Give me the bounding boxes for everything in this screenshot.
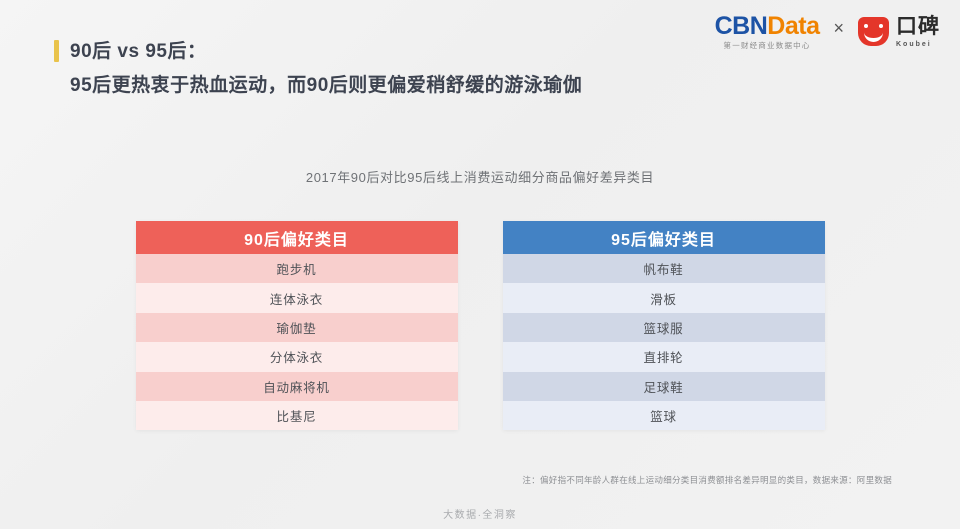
- table-row: 滑板: [503, 283, 825, 312]
- koubei-text-block: 口碑 Koubei: [896, 16, 940, 48]
- footnote: 注：偏好指不同年龄人群在线上运动细分类目消费额排名差异明显的类目，数据来源：阿里…: [522, 474, 892, 486]
- koubei-label-en: Koubei: [896, 41, 940, 48]
- table-95hou-header: 95后偏好类目: [503, 221, 825, 254]
- logo-separator-x: ×: [831, 18, 846, 39]
- koubei-mouth-icon: [864, 26, 883, 42]
- cbndata-subtitle: 第一财经商业数据中心: [724, 42, 811, 49]
- koubei-logo: 口碑 Koubei: [858, 16, 940, 48]
- cbndata-wordmark-orange: Data: [767, 12, 819, 40]
- koubei-label-cn: 口碑: [896, 16, 940, 37]
- table-row: 分体泳衣: [136, 342, 458, 371]
- cbndata-wordmark-blue: CBN: [715, 12, 768, 40]
- table-row: 足球鞋: [503, 372, 825, 401]
- title-line-2: 95后更热衷于热血运动，而90后则更偏爱稍舒缓的游泳瑜伽: [70, 70, 582, 97]
- title-lines: 90后 vs 95后： 95后更热衷于热血运动，而90后则更偏爱稍舒缓的游泳瑜伽: [70, 36, 582, 97]
- table-row: 帆布鞋: [503, 254, 825, 283]
- table-row: 瑜伽垫: [136, 313, 458, 342]
- table-row: 篮球服: [503, 313, 825, 342]
- table-row: 自动麻将机: [136, 372, 458, 401]
- table-row: 篮球: [503, 401, 825, 430]
- table-row: 直排轮: [503, 342, 825, 371]
- preference-tables: 90后偏好类目 跑步机 连体泳衣 瑜伽垫 分体泳衣 自动麻将机 比基尼 95后偏…: [0, 221, 960, 430]
- page-title: 90后 vs 95后： 95后更热衷于热血运动，而90后则更偏爱稍舒缓的游泳瑜伽: [54, 36, 582, 97]
- table-row: 连体泳衣: [136, 283, 458, 312]
- watermark: 大数据·全洞察: [0, 506, 960, 521]
- table-90hou-header: 90后偏好类目: [136, 221, 458, 254]
- koubei-smile-icon: [858, 17, 889, 46]
- chart-caption: 2017年90后对比95后线上消费运动细分商品偏好差异类目: [0, 167, 960, 186]
- title-line-1: 90后 vs 95后：: [70, 36, 582, 63]
- title-accent-bar: [54, 40, 59, 62]
- brand-logo-bar: CBNData 第一财经商业数据中心 × 口碑 Koubei: [715, 14, 940, 50]
- table-row: 比基尼: [136, 401, 458, 430]
- table-row: 跑步机: [136, 254, 458, 283]
- cbndata-wordmark: CBNData: [715, 14, 820, 39]
- table-95hou: 95后偏好类目 帆布鞋 滑板 篮球服 直排轮 足球鞋 篮球: [503, 221, 825, 430]
- table-90hou: 90后偏好类目 跑步机 连体泳衣 瑜伽垫 分体泳衣 自动麻将机 比基尼: [136, 221, 458, 430]
- cbndata-logo: CBNData 第一财经商业数据中心: [715, 14, 820, 50]
